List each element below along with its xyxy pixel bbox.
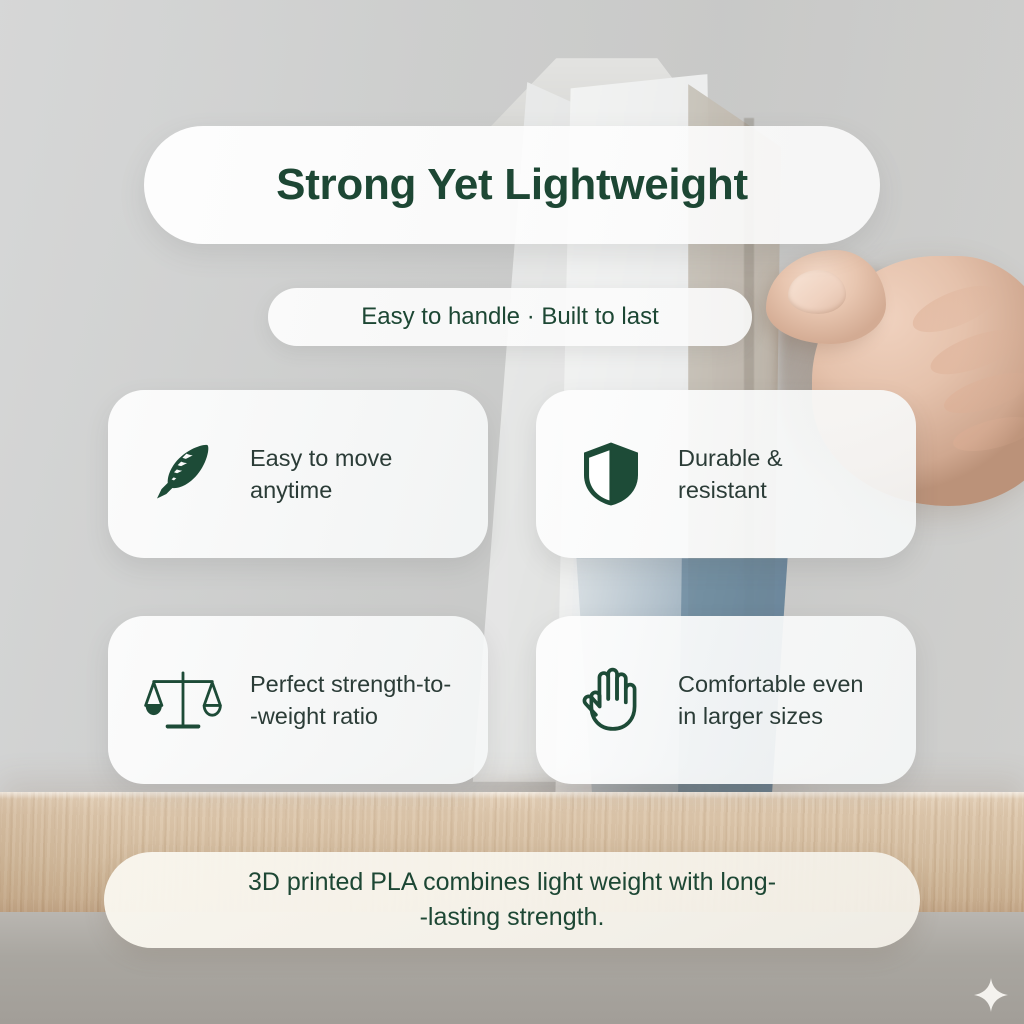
feature-label: Easy to move anytime bbox=[250, 442, 392, 507]
feature-label: Comfortable even in larger sizes bbox=[678, 668, 864, 733]
feature-card-easy-to-move[interactable]: Easy to move anytime bbox=[108, 390, 488, 558]
open-hand-icon bbox=[570, 659, 652, 741]
feather-icon bbox=[142, 433, 224, 515]
feature-card-comfortable[interactable]: Comfortable even in larger sizes bbox=[536, 616, 916, 784]
sparkle-icon bbox=[974, 978, 1008, 1012]
feature-label: Durable & resistant bbox=[678, 442, 783, 507]
shield-icon bbox=[570, 433, 652, 515]
feature-line-1: Durable & bbox=[678, 445, 783, 471]
footer-text: 3D printed PLA combines light weight wit… bbox=[248, 865, 776, 936]
feature-line-2: resistant bbox=[678, 474, 783, 506]
feature-card-durable[interactable]: Durable & resistant bbox=[536, 390, 916, 558]
footer-line-2: -lasting strength. bbox=[248, 900, 776, 936]
footer-banner: 3D printed PLA combines light weight wit… bbox=[104, 852, 920, 948]
feature-line-2: anytime bbox=[250, 474, 392, 506]
feature-label: Perfect strength-to- -weight ratio bbox=[250, 668, 451, 733]
feature-card-strength-to-weight[interactable]: Perfect strength-to- -weight ratio bbox=[108, 616, 488, 784]
feature-line-2: -weight ratio bbox=[250, 700, 451, 732]
footer-line-1: 3D printed PLA combines light weight wit… bbox=[248, 868, 776, 896]
feature-line-1: Easy to move bbox=[250, 445, 392, 471]
feature-line-1: Perfect strength-to- bbox=[250, 671, 451, 697]
balance-scale-icon bbox=[142, 659, 224, 741]
overlay-ui: Strong Yet Lightweight Easy to handle · … bbox=[0, 0, 1024, 1024]
feature-line-2: in larger sizes bbox=[678, 700, 864, 732]
feature-line-1: Comfortable even bbox=[678, 671, 864, 697]
promo-graphic: Strong Yet Lightweight Easy to handle · … bbox=[0, 0, 1024, 1024]
